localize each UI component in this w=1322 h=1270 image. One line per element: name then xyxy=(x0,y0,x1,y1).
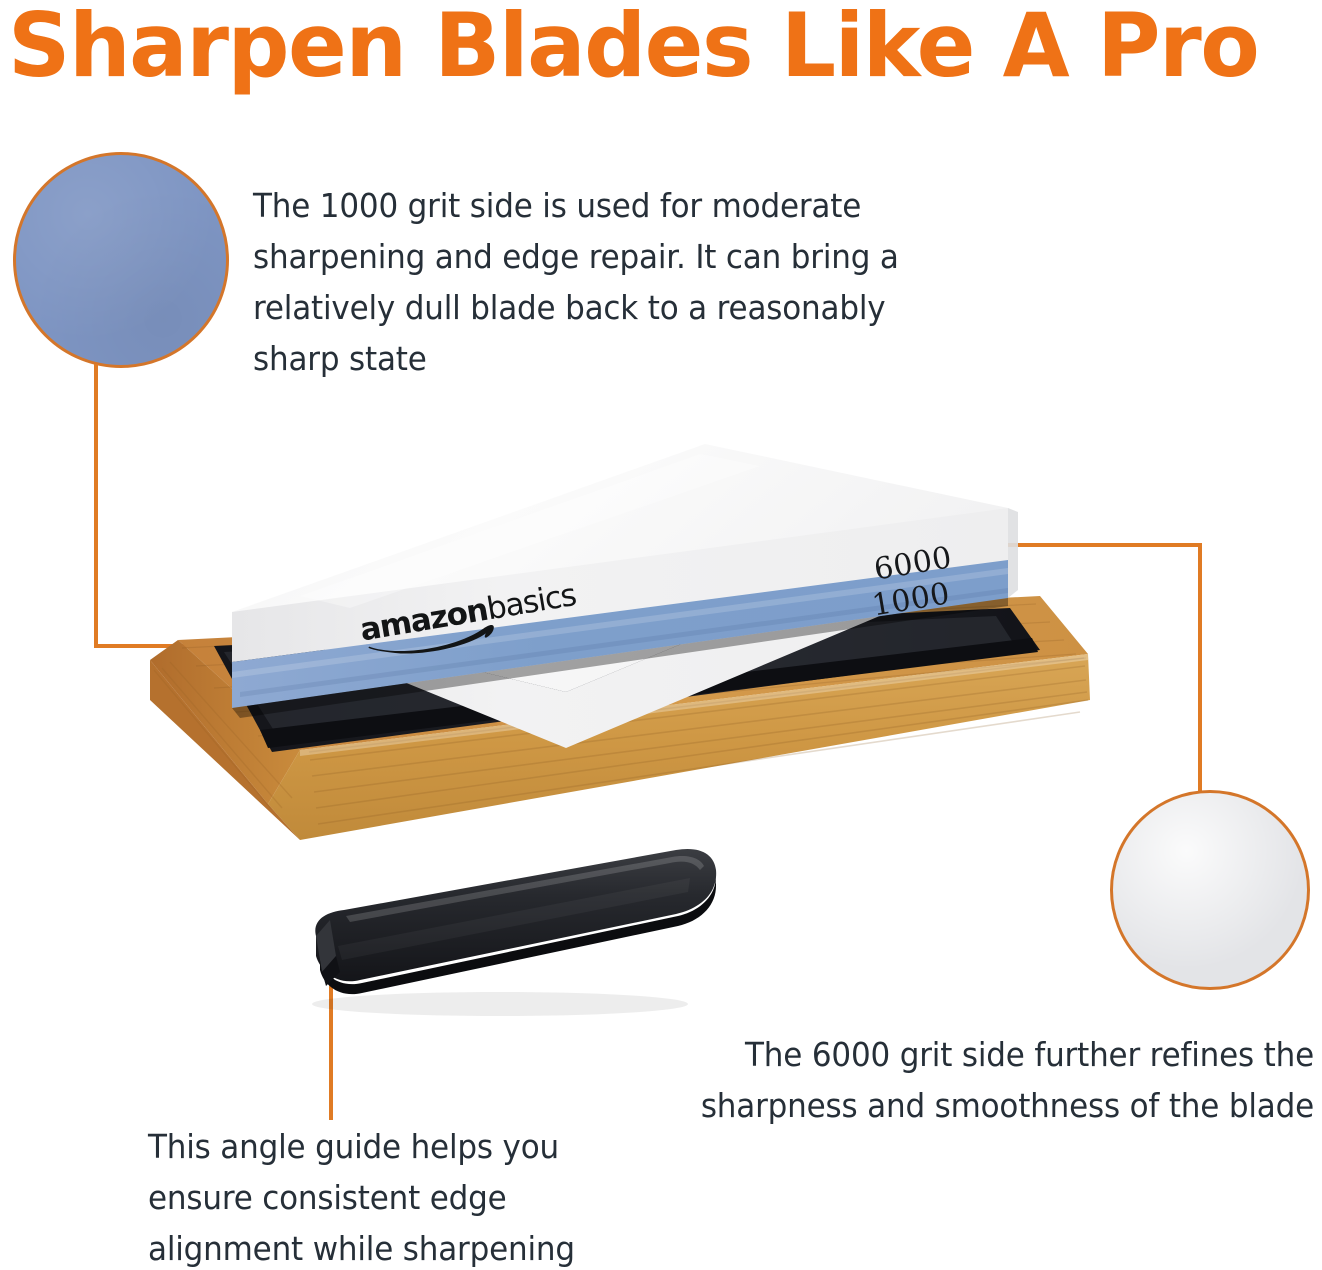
callout-text-6000-grit: The 6000 grit side further refines the s… xyxy=(694,1029,1314,1131)
page-title: Sharpen Blades Like A Pro xyxy=(8,0,1298,98)
callout-text-angle-guide: This angle guide helps you ensure consis… xyxy=(148,1121,618,1270)
infographic-page: Sharpen Blades Like A Pro The 1000 grit … xyxy=(0,0,1322,1270)
callout-text-1000-grit: The 1000 grit side is used for moderate … xyxy=(253,180,977,384)
product-illustration xyxy=(0,400,1140,1040)
blue-1000-grit-swatch xyxy=(13,152,229,368)
white-6000-grit-swatch xyxy=(1110,790,1310,990)
angle-guide xyxy=(312,849,716,1016)
connector-line-6000-vertical xyxy=(1198,543,1202,793)
